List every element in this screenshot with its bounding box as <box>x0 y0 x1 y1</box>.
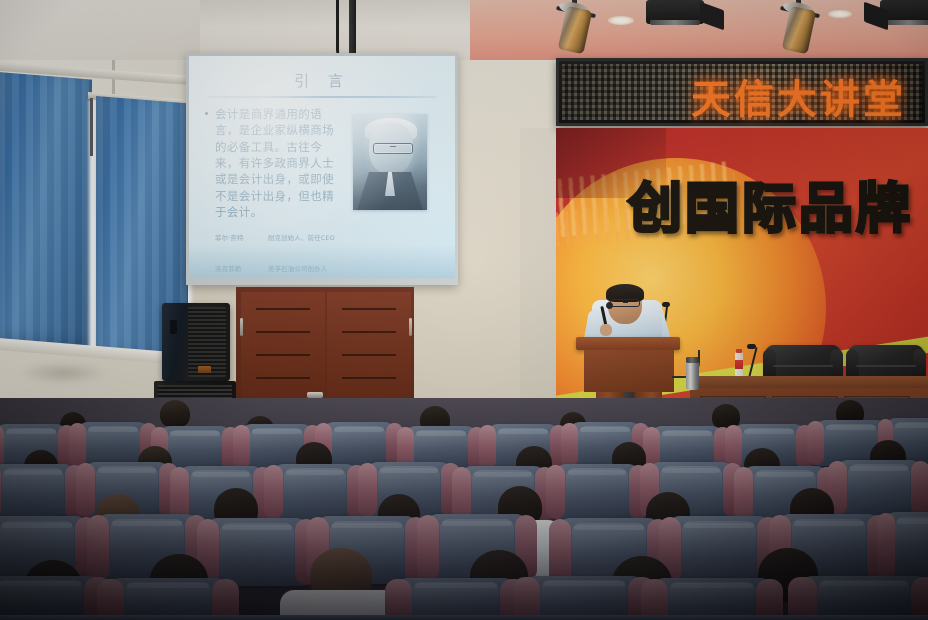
door-groove <box>342 308 396 310</box>
lectern-body <box>584 350 674 392</box>
auditorium-seat[interactable] <box>652 578 772 620</box>
pa-speaker-port <box>170 320 177 334</box>
lectern-top <box>576 337 680 350</box>
led-sign: 天信大讲堂 <box>556 58 928 126</box>
projection-screen: 引 言 会计是商界通用的语言，是企业家纵横商场的必备工具。古往今来，有许多政商界… <box>189 56 455 278</box>
door-groove <box>256 377 310 379</box>
water-bottle-label <box>735 360 743 369</box>
door-groove <box>256 308 310 310</box>
portrait-glasses-bridge <box>390 146 396 147</box>
microphone-capsule-icon <box>606 302 613 309</box>
door-groove <box>342 354 396 356</box>
door-groove <box>256 331 310 333</box>
downlight-icon <box>608 16 634 25</box>
audience-area <box>0 398 928 620</box>
auditorium-seat[interactable] <box>0 576 100 620</box>
door-groove <box>342 377 396 379</box>
vacuum-flask <box>686 360 699 390</box>
image-bottom-edge <box>0 615 928 620</box>
portrait-glasses-icon <box>373 143 413 154</box>
pa-speaker-badge <box>198 366 211 373</box>
door-groove <box>256 354 310 356</box>
credit-name: 菲尔·奈特 <box>215 233 259 243</box>
projector-mount-pole <box>349 0 356 60</box>
auditorium-seat[interactable] <box>668 516 770 584</box>
auditorium-seat[interactable] <box>524 576 644 620</box>
podium-microphone-head <box>662 302 670 307</box>
attendee-head <box>160 400 190 428</box>
slide-body-text: 会计是商界通用的语言，是企业家纵横商场的必备工具。古往今来，有许多政商界人士或是… <box>215 106 335 220</box>
auditorium-seat[interactable] <box>108 578 228 620</box>
head-table-top <box>690 376 928 388</box>
banner-title-text: 创国际品牌 <box>628 164 913 243</box>
slide-title-divider <box>207 96 437 98</box>
door-handle[interactable] <box>240 318 243 336</box>
slide-portrait-photo <box>353 114 427 210</box>
window-blind[interactable] <box>0 72 92 350</box>
auditorium-seat[interactable] <box>884 512 928 580</box>
water-bottle-cap <box>736 349 742 353</box>
downlight-icon <box>828 10 852 18</box>
slide-title: 引 言 <box>189 70 455 91</box>
auditorium-seat[interactable] <box>396 578 516 620</box>
slide-bullet-marker <box>205 112 208 115</box>
blind-pull-cord[interactable] <box>90 98 93 156</box>
gooseneck-microphone-head <box>747 344 756 349</box>
auditorium-seat[interactable] <box>554 464 640 520</box>
auditorium-seat[interactable] <box>272 464 358 520</box>
auditorium-seat[interactable] <box>206 518 308 586</box>
auditorium-seat[interactable] <box>800 576 928 620</box>
led-sign-text: 天信大讲堂 <box>691 67 906 125</box>
wall-stain <box>18 362 108 384</box>
presenter-glasses-bridge <box>623 302 628 303</box>
door-groove <box>342 331 396 333</box>
auditorium-seat[interactable] <box>0 464 76 520</box>
vacuum-flask-cap <box>686 357 699 363</box>
lecture-hall-photo: 引 言 会计是商界通用的语言，是企业家纵横商场的必备工具。古往今来，有许多政商界… <box>0 0 928 620</box>
door-handle[interactable] <box>409 318 412 336</box>
credit-line: 菲尔·奈特 耐克创始人、前任CEO <box>215 233 335 243</box>
auditorium-seat[interactable] <box>836 460 922 516</box>
presenter-left-hand <box>600 324 612 336</box>
credit-role: 耐克创始人、前任CEO <box>268 233 335 243</box>
screen-bottom-glare <box>189 244 455 278</box>
